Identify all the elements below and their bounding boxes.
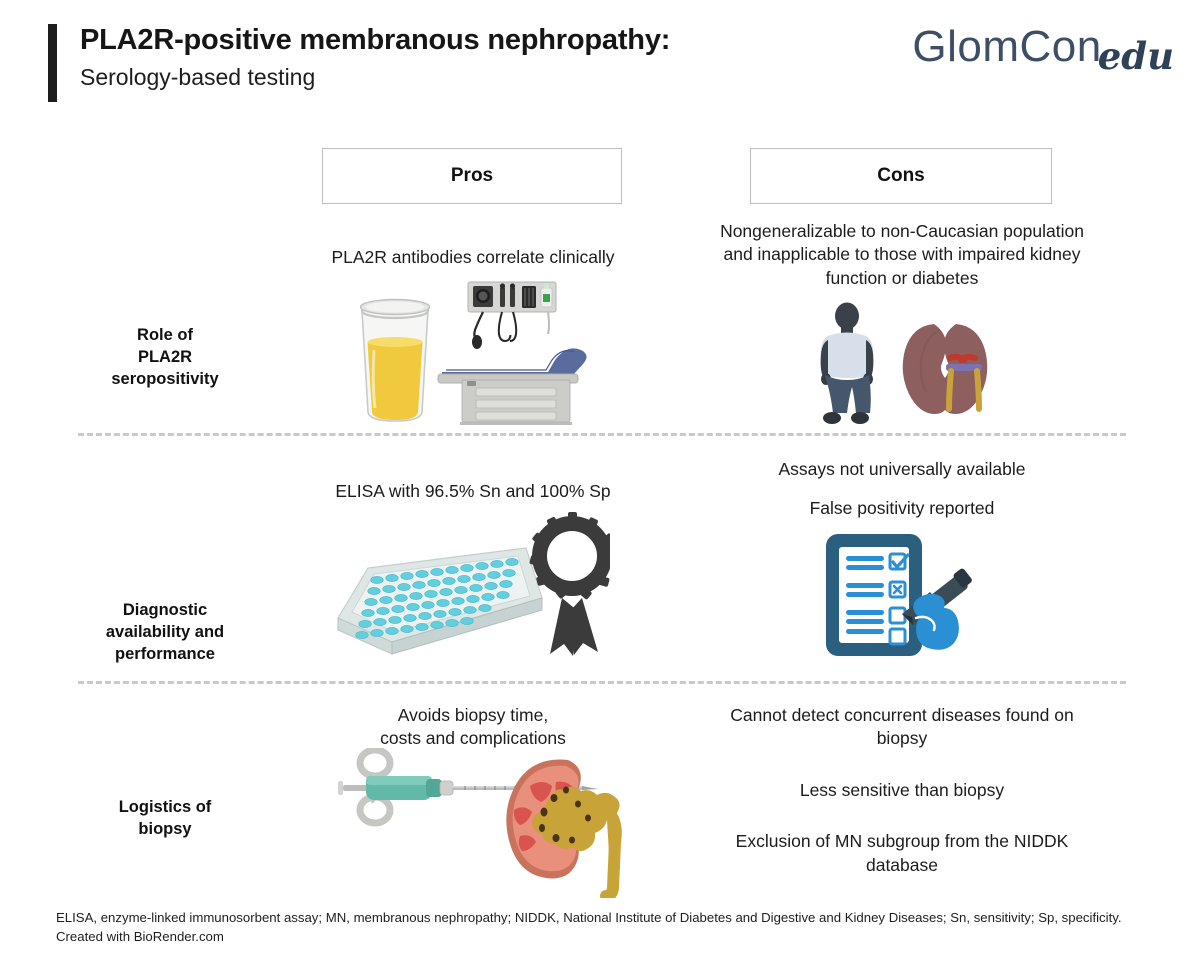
row-2-pros-cell: ELISA with 96.5% Sn and 100% Sp	[282, 480, 664, 503]
row-label-1-line-2: PLA2R	[70, 346, 260, 368]
row-role-of-pla2r-seropositivity: Role of PLA2R seropositivity PLA2R antib…	[0, 212, 1200, 434]
header: PLA2R-positive membranous nephropathy: S…	[0, 0, 1200, 122]
diagnostic-wall-panel-icon	[468, 282, 556, 349]
row-2-cons-cell: Assays not universally available False p…	[712, 458, 1092, 521]
row-3-pros-art	[330, 748, 630, 898]
page-title: PLA2R-positive membranous nephropathy: S…	[80, 22, 670, 91]
row-3-pros-text-1: Avoids biopsy time,	[282, 704, 664, 727]
elisa-microplate-icon	[338, 548, 542, 654]
row-3-cons-text-3: Exclusion of MN subgroup from the NIDDK …	[712, 830, 1092, 877]
row-3-cons-text-2: Less sensitive than biopsy	[712, 779, 1092, 802]
row-divider-2	[78, 681, 1126, 684]
row-1-cons-cell: Nongeneralizable to non-Caucasian popula…	[712, 220, 1092, 290]
checklist-clipboard-icon	[826, 534, 922, 656]
exam-table-icon	[438, 348, 587, 425]
kidney-pair-icon	[903, 324, 988, 414]
title-accent-bar	[48, 24, 57, 102]
row-diagnostic-availability-and-performance: Diagnostic availability and performance …	[0, 444, 1200, 676]
logo-wordmark: GlomCon	[912, 22, 1101, 72]
award-ribbon-icon	[529, 512, 610, 656]
row-2-cons-text-2: False positivity reported	[712, 497, 1092, 520]
row-1-pros-text-1: PLA2R antibodies correlate clinically	[282, 246, 664, 269]
row-label-2-line-2: availability and	[70, 621, 260, 643]
row-3-cons-cell: Cannot detect concurrent diseases found …	[712, 704, 1092, 877]
title-subtitle: Serology-based testing	[80, 64, 670, 91]
row-divider-1	[78, 433, 1126, 436]
row-2-cons-text-1: Assays not universally available	[712, 458, 1092, 481]
row-2-cons-art	[820, 530, 1010, 660]
glomcon-logo: GlomCon edu	[912, 22, 1174, 84]
row-1-cons-art	[810, 302, 1010, 430]
footnote-abbreviations: ELISA, enzyme-linked immunosorbent assay…	[56, 908, 1166, 946]
row-label-3: Logistics of biopsy	[70, 796, 260, 840]
row-3-cons-text-1: Cannot detect concurrent diseases found …	[712, 704, 1092, 751]
row-3-pros-cell: Avoids biopsy time, costs and complicati…	[282, 704, 664, 751]
row-2-pros-art	[330, 506, 610, 661]
row-2-pros-text-1: ELISA with 96.5% Sn and 100% Sp	[282, 480, 664, 503]
row-label-3-line-1: Logistics of	[70, 796, 260, 818]
logo-edu-accent: edu	[1098, 34, 1174, 78]
urine-sample-cup-icon	[361, 300, 430, 422]
patient-figure-icon	[820, 303, 874, 425]
row-label-2-line-1: Diagnostic	[70, 599, 260, 621]
row-label-1: Role of PLA2R seropositivity	[70, 324, 260, 390]
row-logistics-of-biopsy: Logistics of biopsy Avoids biopsy time, …	[0, 686, 1200, 904]
column-header-pros: Pros	[322, 148, 622, 204]
row-label-3-line-2: biopsy	[70, 818, 260, 840]
row-label-2: Diagnostic availability and performance	[70, 599, 260, 665]
row-label-1-line-3: seropositivity	[70, 368, 260, 390]
row-1-pros-cell: PLA2R antibodies correlate clinically	[282, 246, 664, 269]
row-label-2-line-3: performance	[70, 643, 260, 665]
row-1-cons-text-1: Nongeneralizable to non-Caucasian popula…	[712, 220, 1092, 290]
title-main: PLA2R-positive membranous nephropathy:	[80, 22, 670, 58]
kidney-cross-section-icon	[506, 760, 620, 896]
row-1-pros-art	[350, 280, 590, 425]
column-header-cons: Cons	[750, 148, 1052, 204]
row-label-1-line-1: Role of	[70, 324, 260, 346]
